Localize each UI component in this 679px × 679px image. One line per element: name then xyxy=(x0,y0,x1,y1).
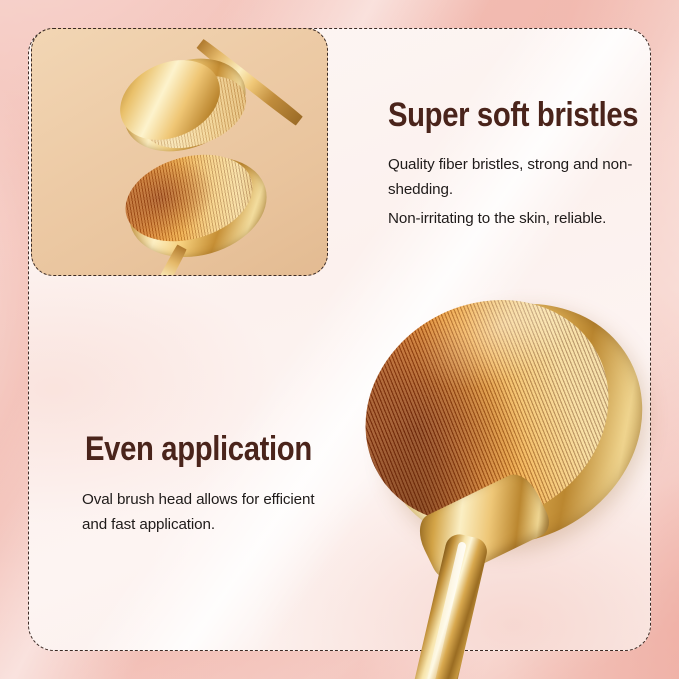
hero-product-photo xyxy=(336,296,679,679)
feature-title-even-application: Even application xyxy=(85,432,312,468)
product-feature-image: Super soft bristles Quality fiber bristl… xyxy=(0,0,679,679)
feature-paragraph-non-irritating: Non-irritating to the skin, reliable. xyxy=(388,206,638,231)
feature-title-super-soft-bristles: Super soft bristles xyxy=(388,98,638,134)
feature-paragraph-quality-fiber: Quality fiber bristles, strong and non-s… xyxy=(388,152,638,202)
feature-paragraph-oval-brush-head: Oval brush head allows for efficient and… xyxy=(82,487,332,537)
inset-product-photo xyxy=(31,28,328,276)
